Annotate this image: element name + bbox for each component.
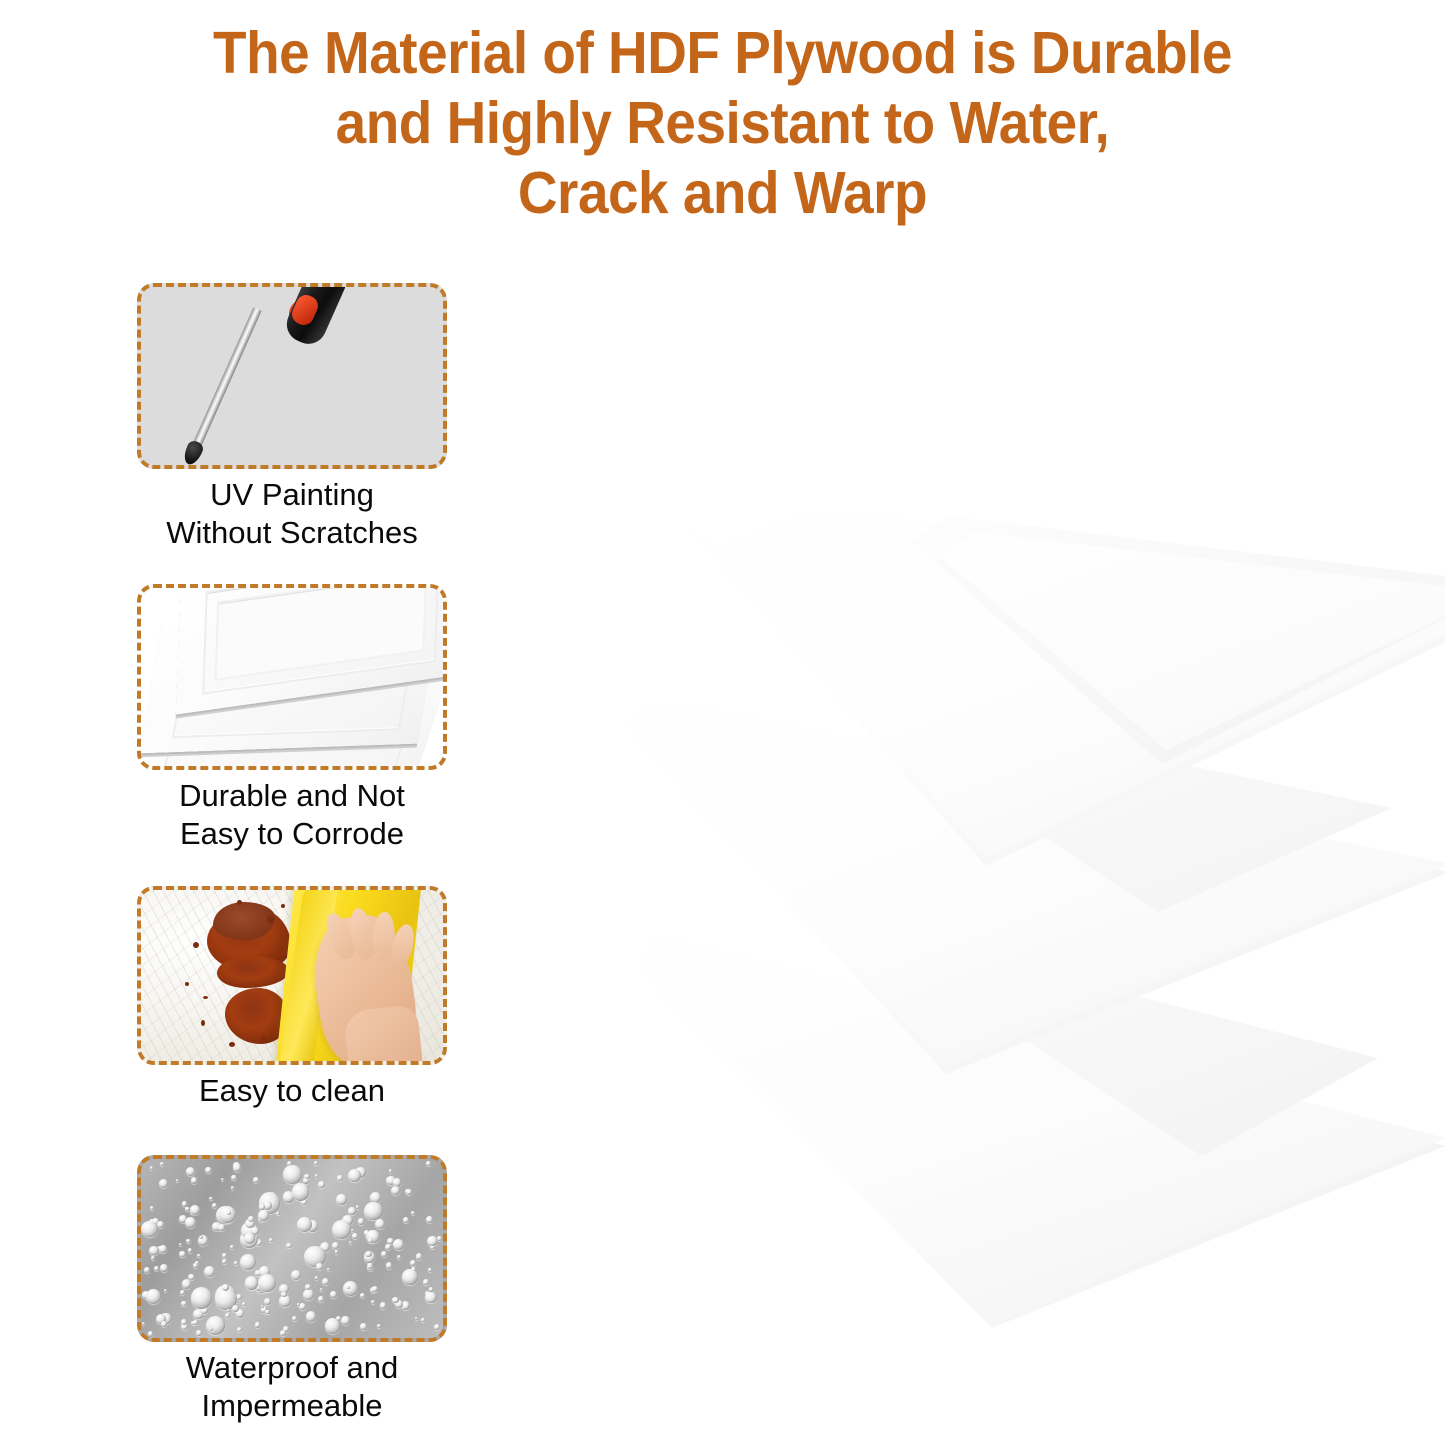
- water-droplet: [336, 1194, 346, 1204]
- water-droplet: [318, 1181, 325, 1188]
- feature-caption: UV Painting Without Scratches: [137, 476, 447, 552]
- water-droplet: [318, 1296, 324, 1302]
- water-droplet: [146, 1289, 161, 1304]
- water-droplet: [179, 1251, 185, 1257]
- water-droplet: [352, 1233, 359, 1240]
- water-droplet: [231, 1175, 237, 1181]
- water-droplet: [372, 1286, 379, 1293]
- water-droplet: [371, 1300, 375, 1304]
- water-droplet: [304, 1174, 309, 1179]
- water-droplet: [179, 1243, 182, 1246]
- water-droplet: [242, 1302, 246, 1306]
- feature-caption: Durable and Not Easy to Corrode: [137, 777, 447, 853]
- feature-image-frame: [137, 584, 447, 770]
- water-droplet: [222, 1253, 227, 1258]
- water-droplet: [222, 1259, 227, 1264]
- water-droplet: [227, 1309, 230, 1312]
- water-droplet: [245, 1276, 258, 1289]
- water-droplet: [423, 1279, 429, 1285]
- water-droplet: [327, 1268, 330, 1271]
- water-droplet: [434, 1324, 440, 1330]
- water-droplet: [160, 1264, 168, 1272]
- water-droplet: [411, 1211, 415, 1215]
- stain-splatter: [185, 982, 189, 986]
- hand-wiping-stain-icon: [141, 890, 443, 1061]
- water-droplet: [191, 1177, 197, 1183]
- water-droplet: [426, 1216, 433, 1223]
- feature-image-frame: [137, 283, 447, 469]
- water-droplet: [230, 1245, 234, 1249]
- water-droplet: [386, 1262, 392, 1268]
- water-droplet: [160, 1162, 164, 1166]
- water-droplet: [351, 1229, 354, 1232]
- water-droplet: [360, 1323, 367, 1330]
- stain-splatter: [267, 916, 274, 923]
- water-droplet: [209, 1197, 212, 1200]
- water-droplet: [142, 1322, 145, 1325]
- water-droplet: [185, 1207, 189, 1211]
- water-droplet: [186, 1167, 195, 1176]
- feature-caption: Easy to clean: [137, 1072, 447, 1110]
- water-droplet: [283, 1165, 301, 1183]
- water-droplet: [330, 1291, 336, 1297]
- water-droplet: [316, 1263, 323, 1270]
- water-droplet: [237, 1327, 243, 1333]
- water-droplet: [222, 1284, 229, 1291]
- water-droplet: [392, 1297, 398, 1303]
- water-droplet: [190, 1205, 200, 1215]
- water-droplet: [255, 1322, 260, 1327]
- water-droplet: [360, 1293, 365, 1298]
- stain-splatter: [203, 996, 208, 999]
- water-droplet: [348, 1207, 355, 1214]
- stain-splatter: [229, 1042, 235, 1047]
- page-title: The Material of HDF Plywood is Durable a…: [0, 18, 1445, 228]
- water-droplet: [205, 1167, 212, 1174]
- water-droplet: [337, 1175, 343, 1181]
- water-droplet: [320, 1288, 323, 1291]
- water-droplet: [381, 1251, 387, 1257]
- water-droplet: [231, 1186, 235, 1190]
- water-droplet: [343, 1281, 359, 1297]
- stain-splatter: [261, 1036, 266, 1041]
- title-line-1: The Material of HDF Plywood is Durable: [51, 18, 1395, 88]
- water-droplet: [427, 1236, 438, 1247]
- water-droplet: [428, 1268, 432, 1272]
- water-droplet: [364, 1202, 383, 1221]
- water-droplet: [332, 1242, 339, 1249]
- water-droplet: [240, 1254, 257, 1271]
- stain-splatter: [193, 942, 199, 948]
- water-droplet: [335, 1250, 338, 1253]
- stain-splatter: [201, 1020, 205, 1026]
- water-droplet: [325, 1318, 341, 1334]
- water-droplet: [196, 1330, 202, 1336]
- water-droplet: [149, 1246, 158, 1255]
- water-droplet: [225, 1313, 230, 1318]
- water-droplet: [181, 1301, 187, 1307]
- water-droplet: [315, 1276, 318, 1279]
- water-droplet: [305, 1284, 311, 1290]
- water-droplet: [421, 1318, 425, 1322]
- water-droplet: [182, 1201, 187, 1206]
- water-droplet: [253, 1177, 259, 1183]
- water-droplet: [375, 1219, 385, 1229]
- water-droplet: [191, 1287, 212, 1308]
- water-droplet: [148, 1331, 154, 1337]
- feature-card-durable-corrode: Durable and Not Easy to Corrode: [137, 584, 447, 853]
- water-droplet: [377, 1324, 381, 1328]
- water-droplet: [341, 1316, 349, 1324]
- water-droplet: [402, 1269, 418, 1285]
- water-droplet: [281, 1292, 286, 1297]
- water-droplet: [314, 1161, 318, 1165]
- water-droplet: [197, 1254, 201, 1258]
- water-droplet: [397, 1255, 401, 1259]
- water-droplet: [144, 1267, 150, 1273]
- water-droplet: [349, 1241, 352, 1244]
- water-droplet: [356, 1205, 360, 1209]
- water-droplet: [218, 1224, 225, 1231]
- water-droplet: [358, 1218, 364, 1224]
- water-droplet: [286, 1243, 292, 1249]
- water-droplet: [251, 1227, 260, 1236]
- stacked-panels-icon: [141, 588, 443, 766]
- screwdriver-shaft: [192, 307, 261, 448]
- title-line-3: Crack and Warp: [51, 158, 1395, 228]
- water-droplet: [299, 1303, 306, 1310]
- water-droplet: [221, 1178, 224, 1181]
- water-droplet: [303, 1289, 314, 1300]
- water-droplet: [227, 1211, 231, 1215]
- water-droplet: [182, 1279, 192, 1289]
- water-droplet: [365, 1251, 371, 1257]
- water-droplet: [332, 1220, 351, 1239]
- water-droplet: [206, 1316, 225, 1335]
- water-droplet: [406, 1189, 412, 1195]
- water-droplet: [410, 1260, 416, 1266]
- water-droplet: [415, 1317, 418, 1320]
- water-droplet: [159, 1179, 168, 1188]
- water-droplet: [280, 1330, 286, 1336]
- water-droplet: [389, 1169, 392, 1172]
- feature-image-frame: [137, 1155, 447, 1342]
- hero-product-image: [600, 430, 1445, 1360]
- feature-caption: Waterproof and Impermeable: [137, 1349, 447, 1425]
- feature-card-easy-to-clean: Easy to clean: [137, 886, 447, 1110]
- water-droplet: [204, 1266, 215, 1277]
- water-droplet: [154, 1266, 159, 1271]
- water-droplet: [259, 1204, 264, 1209]
- water-droplet: [150, 1206, 154, 1210]
- water-droplet: [199, 1236, 203, 1240]
- water-droplet: [315, 1174, 319, 1178]
- feature-image-frame: [137, 886, 447, 1065]
- water-droplet: [159, 1245, 167, 1253]
- water-droplet: [151, 1256, 155, 1260]
- stain-splatter: [281, 904, 285, 908]
- water-droplet: [188, 1274, 194, 1280]
- water-droplet: [368, 1238, 373, 1243]
- water-droplet: [258, 1274, 276, 1292]
- forearm: [343, 1004, 425, 1065]
- water-droplets-icon: [141, 1159, 443, 1338]
- water-droplet: [265, 1310, 269, 1314]
- water-droplet: [416, 1253, 423, 1260]
- water-droplet: [403, 1217, 409, 1223]
- water-droplet: [264, 1298, 271, 1305]
- water-droplet: [380, 1302, 386, 1308]
- water-droplet: [292, 1316, 297, 1321]
- water-droplet: [425, 1292, 436, 1303]
- water-droplet: [258, 1210, 270, 1222]
- water-droplet: [385, 1244, 391, 1250]
- water-droplet: [306, 1311, 316, 1321]
- water-droplet: [212, 1203, 218, 1209]
- screwdriver-icon: [141, 287, 443, 465]
- water-droplet: [348, 1169, 361, 1182]
- water-droplet: [437, 1236, 442, 1241]
- water-droplet: [347, 1286, 350, 1289]
- water-droplet: [186, 1239, 190, 1243]
- water-droplet: [269, 1238, 273, 1242]
- water-droplet: [391, 1186, 400, 1195]
- water-droplet: [322, 1278, 329, 1285]
- water-droplet: [188, 1248, 192, 1252]
- water-droplet: [292, 1183, 309, 1200]
- water-droplet: [180, 1290, 185, 1295]
- water-droplet: [393, 1239, 404, 1250]
- water-droplet: [164, 1289, 167, 1292]
- water-droplet: [141, 1221, 157, 1237]
- water-droplet: [193, 1320, 198, 1325]
- water-droplet: [185, 1217, 196, 1228]
- stain-splatter: [237, 900, 242, 905]
- water-droplet: [150, 1166, 153, 1169]
- title-line-2: and Highly Resistant to Water,: [51, 88, 1395, 158]
- water-droplet: [193, 1263, 198, 1268]
- water-droplet: [291, 1270, 301, 1280]
- feature-card-waterproof: Waterproof and Impermeable: [137, 1155, 447, 1425]
- water-droplet: [276, 1212, 279, 1215]
- water-droplet: [234, 1261, 238, 1265]
- feature-card-uv-painting: UV Painting Without Scratches: [137, 283, 447, 552]
- water-droplet: [426, 1161, 431, 1166]
- water-droplet: [233, 1163, 241, 1171]
- water-droplet: [161, 1321, 168, 1328]
- water-droplet: [176, 1179, 179, 1182]
- water-droplet: [210, 1327, 213, 1330]
